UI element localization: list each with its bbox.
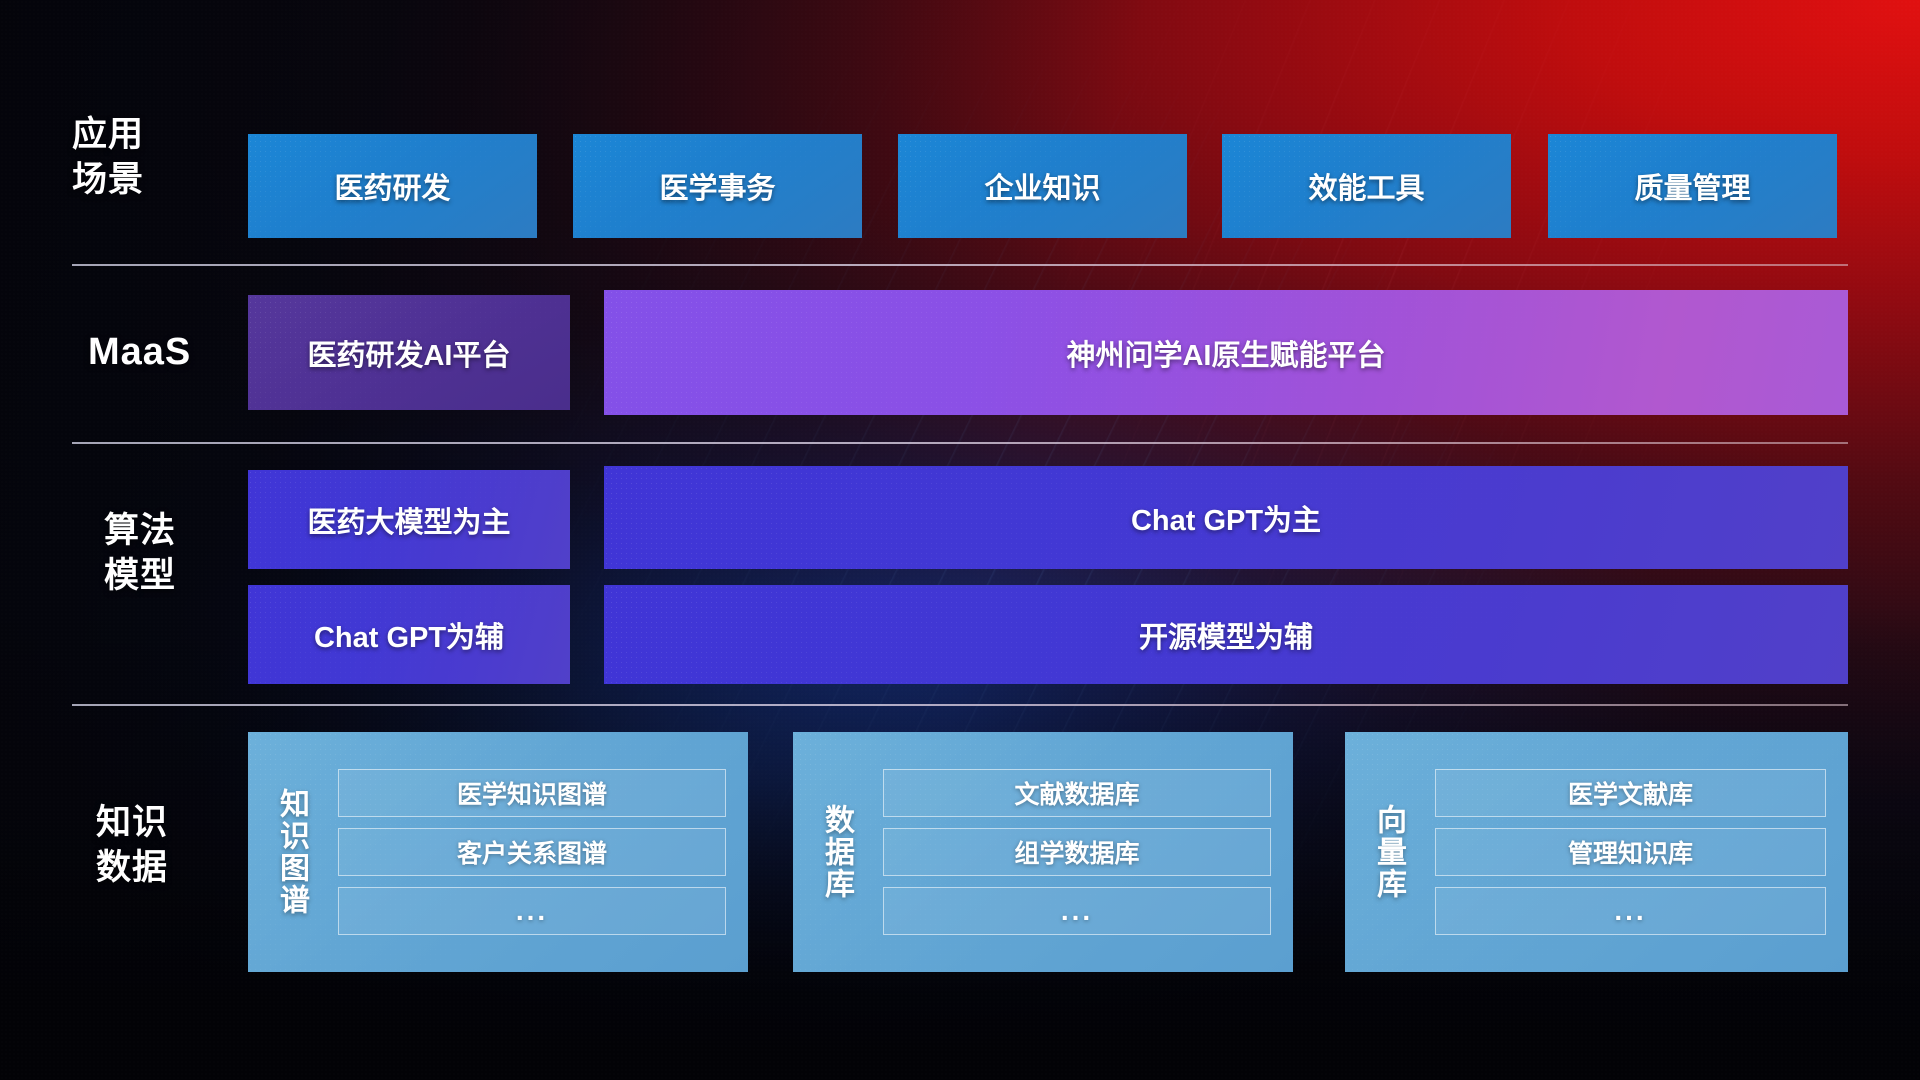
algorithm-box-left-2[interactable]: Chat GPT为辅	[248, 585, 570, 684]
knowledge-panel-graph: 知识图谱 医学知识图谱 客户关系图谱 ...	[248, 732, 748, 972]
app-box-3-label: 企业知识	[984, 165, 1100, 207]
slide-canvas: 应用 场景 医药研发 医学事务 企业知识 效能工具 质量管理 MaaS 医药研发…	[0, 0, 1920, 1080]
app-box-2[interactable]: 医学事务	[573, 134, 862, 238]
knowledge-item[interactable]: 管理知识库	[1435, 828, 1826, 876]
divider-3	[72, 704, 1848, 706]
app-box-4[interactable]: 效能工具	[1222, 134, 1511, 238]
knowledge-item[interactable]: 客户关系图谱	[338, 828, 726, 876]
row-label-maas: MaaS	[88, 330, 191, 375]
knowledge-item-more[interactable]: ...	[1435, 887, 1826, 935]
knowledge-item-more[interactable]: ...	[338, 887, 726, 935]
maas-box-left-label: 医药研发AI平台	[307, 332, 510, 374]
knowledge-panel-database-title: 数据库	[793, 732, 879, 972]
row-label-algorithm: 算法 模型	[104, 508, 176, 598]
app-box-1[interactable]: 医药研发	[248, 134, 537, 238]
app-box-3[interactable]: 企业知识	[898, 134, 1187, 238]
app-box-5-label: 质量管理	[1634, 165, 1750, 207]
app-box-5[interactable]: 质量管理	[1548, 134, 1837, 238]
app-box-1-label: 医药研发	[334, 165, 450, 207]
knowledge-item[interactable]: 组学数据库	[883, 828, 1271, 876]
knowledge-item-label: ...	[1614, 895, 1646, 927]
knowledge-panel-graph-title: 知识图谱	[248, 732, 334, 972]
knowledge-panel-vector-title: 向量库	[1345, 732, 1431, 972]
knowledge-item-label: 医学知识图谱	[457, 775, 607, 811]
row-label-knowledge: 知识 数据	[96, 800, 168, 890]
algorithm-box-left-1-label: 医药大模型为主	[307, 499, 510, 541]
knowledge-item[interactable]: 医学知识图谱	[338, 769, 726, 817]
architecture-diagram: 应用 场景 医药研发 医学事务 企业知识 效能工具 质量管理 MaaS 医药研发…	[0, 0, 1920, 1080]
knowledge-item-label: 医学文献库	[1568, 775, 1693, 811]
knowledge-panel-graph-items: 医学知识图谱 客户关系图谱 ...	[334, 732, 748, 972]
algorithm-box-right-2-label: 开源模型为辅	[1139, 614, 1313, 656]
algorithm-box-right-2[interactable]: 开源模型为辅	[604, 585, 1848, 684]
knowledge-panel-database: 数据库 文献数据库 组学数据库 ...	[793, 732, 1293, 972]
app-box-2-label: 医学事务	[659, 165, 775, 207]
knowledge-item-label: ...	[516, 895, 548, 927]
divider-2	[72, 442, 1848, 444]
knowledge-item[interactable]: 医学文献库	[1435, 769, 1826, 817]
algorithm-box-right-1-label: Chat GPT为主	[1131, 497, 1321, 539]
knowledge-item-more[interactable]: ...	[883, 887, 1271, 935]
algorithm-box-left-1[interactable]: 医药大模型为主	[248, 470, 570, 569]
knowledge-panel-vector-items: 医学文献库 管理知识库 ...	[1431, 732, 1848, 972]
knowledge-item-label: ...	[1061, 895, 1093, 927]
knowledge-item-label: 管理知识库	[1568, 834, 1693, 870]
maas-box-right[interactable]: 神州问学AI原生赋能平台	[604, 290, 1848, 415]
app-box-4-label: 效能工具	[1308, 165, 1424, 207]
algorithm-box-left-2-label: Chat GPT为辅	[314, 614, 504, 656]
algorithm-box-right-1[interactable]: Chat GPT为主	[604, 466, 1848, 569]
knowledge-panel-database-items: 文献数据库 组学数据库 ...	[879, 732, 1293, 972]
divider-1	[72, 264, 1848, 266]
knowledge-item-label: 客户关系图谱	[457, 834, 607, 870]
maas-box-right-label: 神州问学AI原生赋能平台	[1066, 332, 1385, 374]
knowledge-item[interactable]: 文献数据库	[883, 769, 1271, 817]
knowledge-item-label: 文献数据库	[1014, 775, 1139, 811]
maas-box-left[interactable]: 医药研发AI平台	[248, 295, 570, 410]
knowledge-panel-vector: 向量库 医学文献库 管理知识库 ...	[1345, 732, 1848, 972]
knowledge-item-label: 组学数据库	[1014, 834, 1139, 870]
row-label-application: 应用 场景	[72, 112, 144, 202]
